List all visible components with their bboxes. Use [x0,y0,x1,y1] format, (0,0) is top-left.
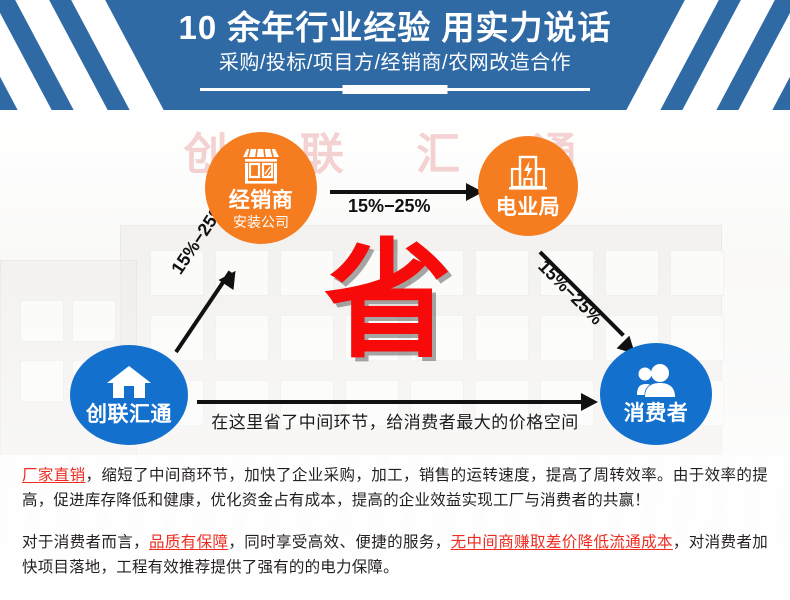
house-icon [106,364,152,400]
node-dealer[interactable]: 经销商 安装公司 [205,132,317,244]
footer-paragraph-2: 对于消费者而言，品质有保障，同时享受高效、便捷的服务，无中间商赚取差价降低流通成… [22,513,768,580]
header-banner: 10 余年行业经验 用实力说话 采购/投标/项目方/经销商/农网改造合作 [0,0,790,110]
footer-highlight-no-middleman: 无中间商赚取差价降低流通成本 [451,534,673,551]
savings-glyph: 省 [324,238,452,366]
page-title: 10 余年行业经验 用实力说话 [0,0,790,49]
power-building-icon [507,153,549,193]
shop-icon [239,146,283,186]
footer-paragraph-2-middle: ，同时享受高效、便捷的服务， [228,534,450,551]
footer-paragraph-1-rest: ，缩短了中间商环节，加快了企业采购，加工，销售的运转速度，提高了周转效率。由于效… [22,467,768,509]
node-factory-name: 创联汇通 [86,403,172,427]
node-dealer-sub: 安装公司 [233,213,289,231]
footer-paragraph-1: 厂家直销，缩短了中间商环节，加快了企业采购，加工，销售的运转速度，提高了周转效率… [22,455,768,513]
node-bureau-name: 电业局 [496,196,561,220]
footer-paragraph-2-lead: 对于消费者而言， [22,534,149,551]
background-watermark: 创 联 汇 通 [0,118,790,182]
footer-highlight-factory-direct: 厂家直销 [22,467,86,484]
footer-text-block: 厂家直销，缩短了中间商环节，加快了企业采购，加工，销售的运转速度，提高了周转效率… [0,455,790,600]
infographic-page: 10 余年行业经验 用实力说话 采购/投标/项目方/经销商/农网改造合作 [0,0,790,600]
node-factory[interactable]: 创联汇通 [70,345,188,445]
node-consumer-name: 消费者 [624,402,689,426]
node-bureau[interactable]: 电业局 [478,136,578,236]
footer-highlight-quality: 品质有保障 [149,534,228,551]
page-subtitle: 采购/投标/项目方/经销商/农网改造合作 [0,49,790,76]
header-text-block: 10 余年行业经验 用实力说话 采购/投标/项目方/经销商/农网改造合作 [0,0,790,110]
node-dealer-name: 经销商 [229,189,294,213]
node-consumer[interactable]: 消费者 [600,343,712,445]
people-icon [634,363,678,399]
arrow-label-dealer-to-bureau: 15%−25% [348,196,431,217]
